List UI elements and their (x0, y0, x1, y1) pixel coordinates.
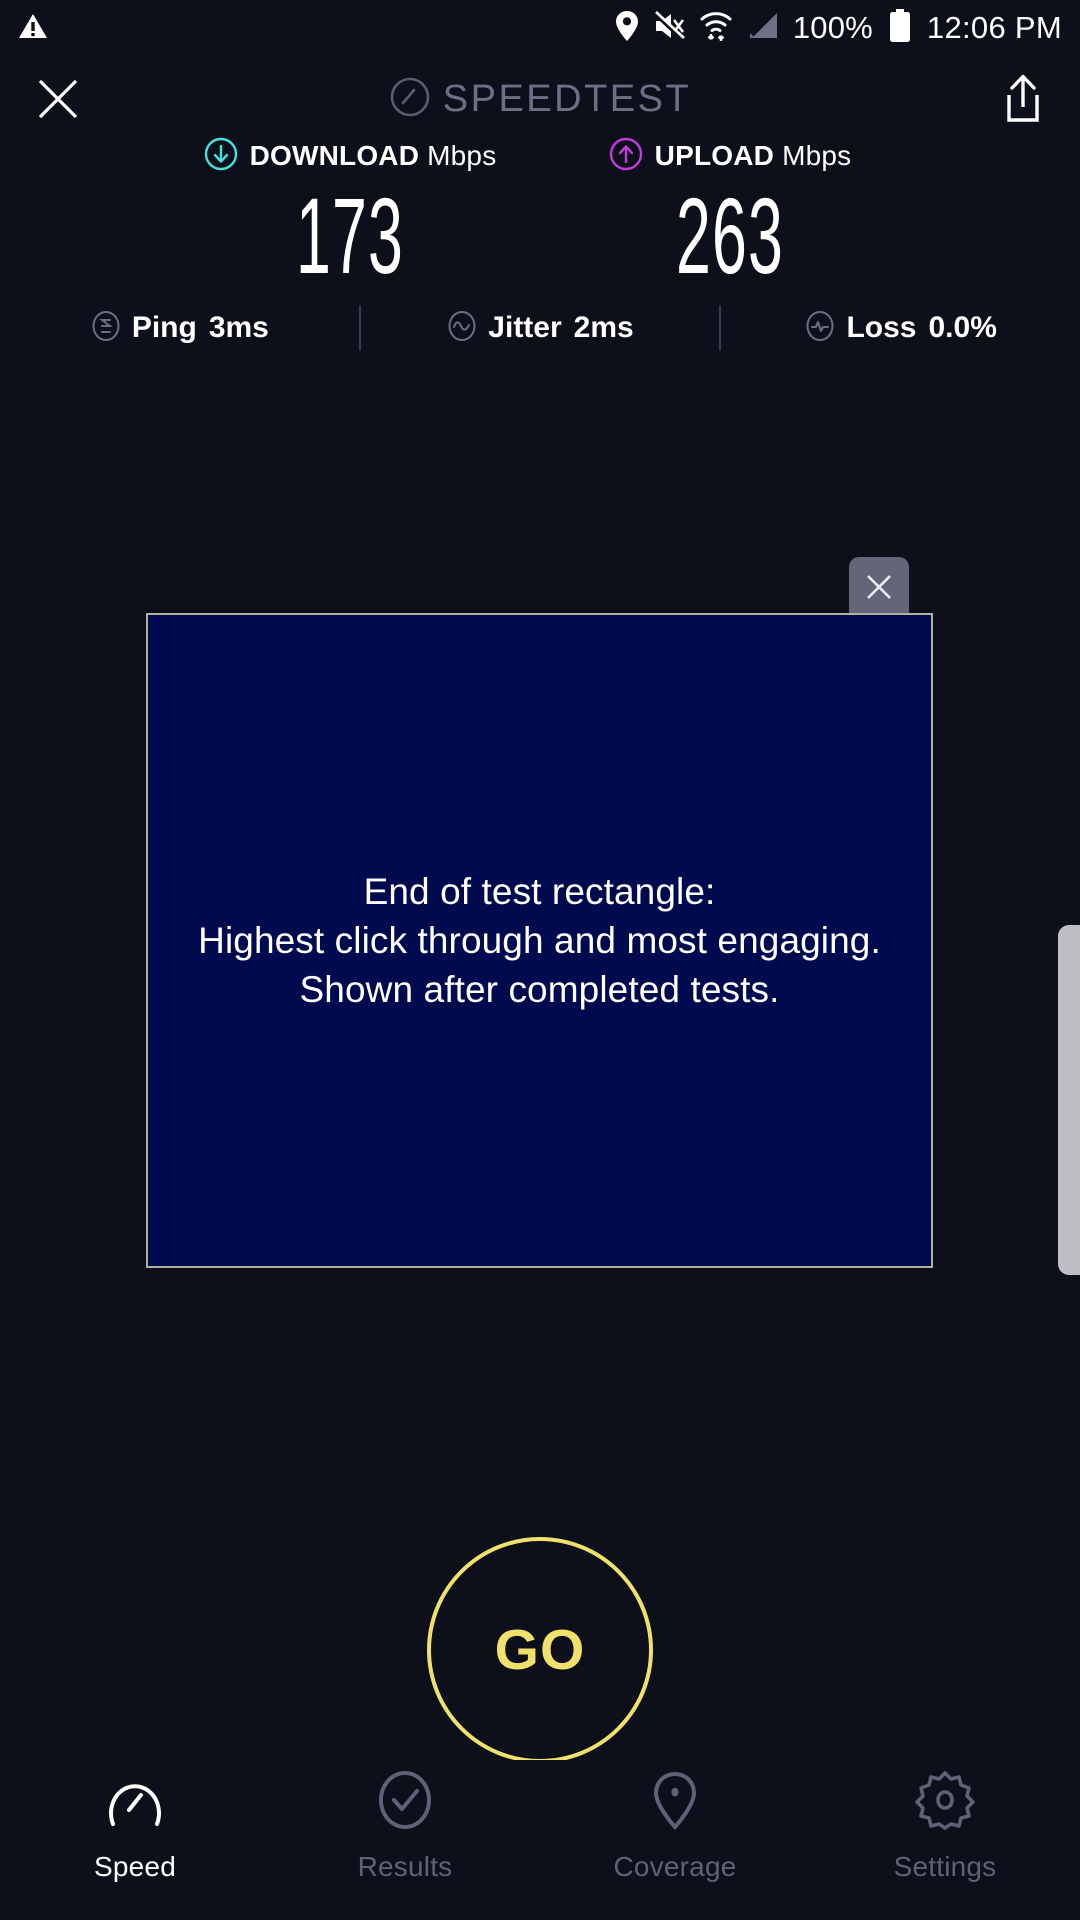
upload-value: 263 (620, 182, 840, 290)
app-header: SPEEDTEST (0, 56, 1080, 142)
nav-label-coverage: Coverage (613, 1851, 736, 1883)
upload-arrow-icon (609, 137, 643, 176)
nav-item-speed[interactable]: Speed (0, 1770, 270, 1883)
advertisement-banner[interactable]: End of test rectangle: Highest click thr… (146, 613, 933, 1268)
ad-line-3: Shown after completed tests. (198, 965, 881, 1014)
warning-triangle-icon (18, 12, 48, 45)
speedometer-icon (389, 76, 431, 123)
gear-icon (913, 1770, 977, 1835)
nav-item-settings[interactable]: Settings (810, 1770, 1080, 1883)
ad-line-1: End of test rectangle: (198, 867, 881, 916)
nav-item-coverage[interactable]: Coverage (540, 1770, 810, 1883)
close-icon[interactable] (34, 75, 82, 123)
upload-header: UPLOAD Mbps (540, 136, 920, 176)
loss-icon (804, 310, 836, 347)
wifi-icon (699, 10, 733, 47)
status-bar: 100% 12:06 PM (0, 0, 1080, 56)
connection-stats-row: Ping 3ms Jitter 2ms Loss 0.0% (0, 300, 1080, 356)
jitter-value: 2ms (574, 311, 634, 345)
status-bar-left (18, 12, 48, 45)
upload-label: UPLOAD Mbps (655, 140, 852, 172)
speedometer-icon (103, 1770, 167, 1835)
download-label: DOWNLOAD Mbps (250, 140, 497, 172)
go-button-label: GO (495, 1617, 586, 1683)
ping-label: Ping (132, 311, 197, 345)
go-button[interactable]: GO (427, 1537, 653, 1763)
cellular-signal-icon (747, 11, 779, 46)
location-pin-icon (643, 1770, 707, 1835)
download-metric: DOWNLOAD Mbps 173 (160, 136, 540, 290)
ad-close-button[interactable] (849, 557, 909, 617)
upload-metric: UPLOAD Mbps 263 (540, 136, 920, 290)
clock-label: 12:06 PM (927, 10, 1062, 46)
download-upload-row: DOWNLOAD Mbps 173 UPLOAD Mbps 263 (0, 136, 1080, 290)
download-header: DOWNLOAD Mbps (160, 136, 540, 176)
ad-line-2: Highest click through and most engaging. (198, 916, 881, 965)
battery-full-icon (889, 9, 911, 48)
loss-label: Loss (846, 311, 916, 345)
advertisement-container: End of test rectangle: Highest click thr… (146, 613, 933, 1268)
share-icon[interactable] (1000, 73, 1046, 125)
check-circle-icon (373, 1770, 437, 1835)
close-icon (862, 570, 896, 604)
brand-title: SPEEDTEST (443, 78, 691, 121)
nav-item-results[interactable]: Results (270, 1770, 540, 1883)
mute-icon (653, 11, 685, 46)
bottom-navigation: Speed Results Coverage (0, 1760, 1080, 1920)
battery-percent-label: 100% (793, 10, 873, 46)
jitter-label: Jitter (488, 311, 561, 345)
jitter-stat: Jitter 2ms (361, 310, 720, 347)
status-bar-right: 100% 12:06 PM (615, 9, 1062, 48)
loss-value: 0.0% (929, 311, 997, 345)
speedtest-app: 100% 12:06 PM SPEEDTEST (0, 0, 1080, 1920)
loss-stat: Loss 0.0% (721, 310, 1080, 347)
download-arrow-icon (204, 137, 238, 176)
ping-value: 3ms (209, 311, 269, 345)
scrollbar-thumb[interactable] (1058, 925, 1080, 1275)
jitter-icon (446, 310, 478, 347)
ping-icon (90, 310, 122, 347)
download-value: 173 (240, 182, 460, 290)
ad-text: End of test rectangle: Highest click thr… (192, 867, 887, 1015)
ping-stat: Ping 3ms (0, 310, 359, 347)
nav-label-speed: Speed (94, 1851, 176, 1883)
location-pin-icon (615, 10, 639, 47)
results-summary: DOWNLOAD Mbps 173 UPLOAD Mbps 263 (0, 136, 1080, 290)
brand-logo: SPEEDTEST (0, 56, 1080, 142)
nav-label-settings: Settings (894, 1851, 997, 1883)
nav-label-results: Results (358, 1851, 453, 1883)
